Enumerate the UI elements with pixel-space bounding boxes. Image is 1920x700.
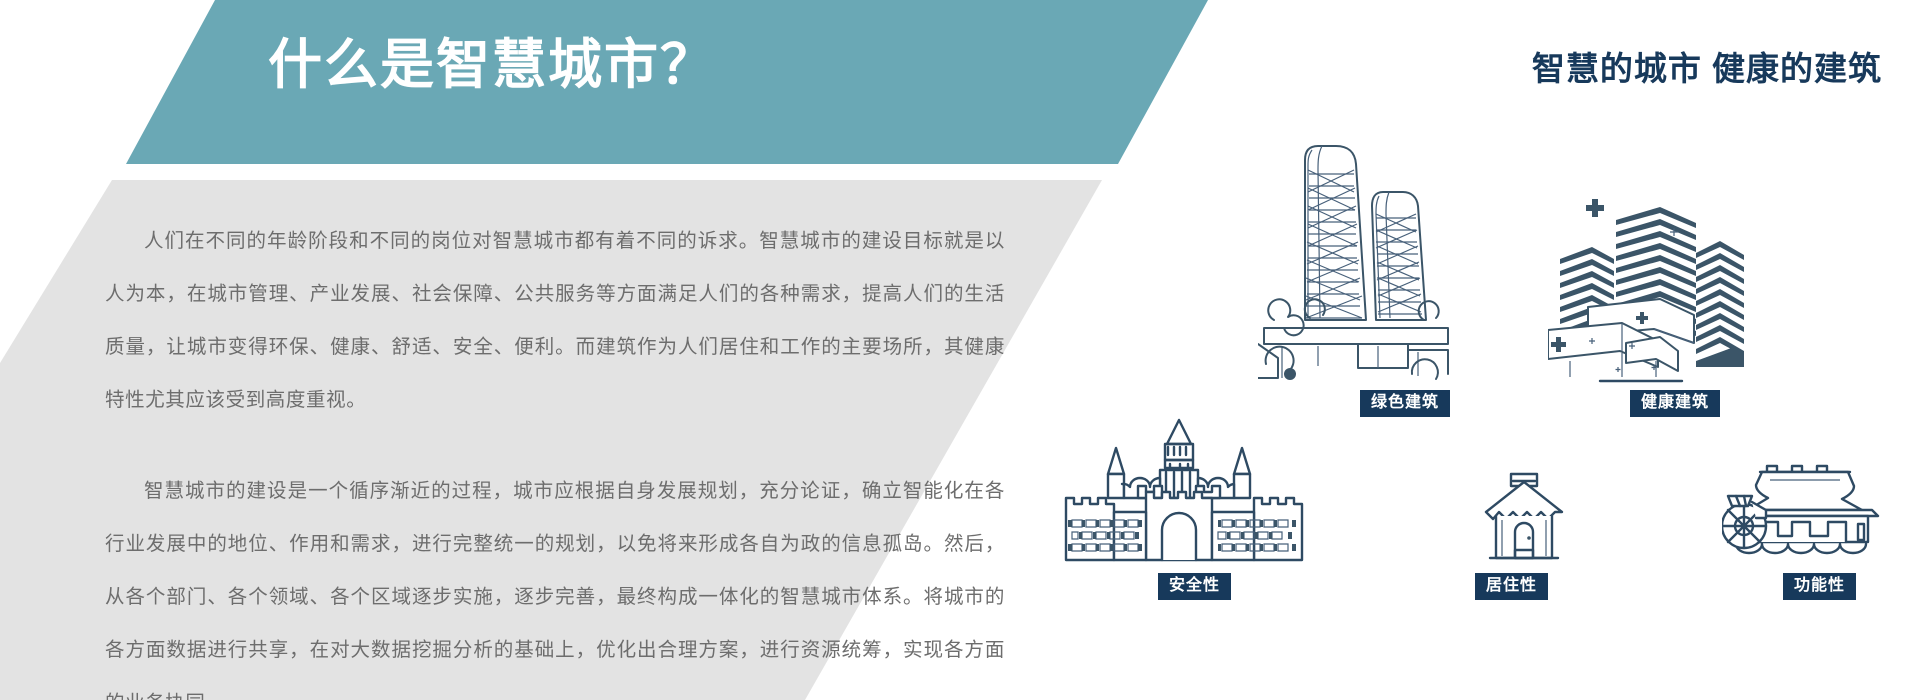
watermill-pavilion-icon [1722,458,1888,562]
tag-green-building: 绿色建筑 [1360,390,1450,417]
illustration-functionality [1722,458,1888,562]
tag-functionality: 功能性 [1783,573,1856,600]
house-icon [1481,470,1567,566]
tag-livability: 居住性 [1475,573,1548,600]
page-title: 什么是智慧城市？ [268,36,716,95]
tag-health-building: 健康建筑 [1630,390,1720,417]
twin-twisted-towers-icon [1258,130,1498,385]
illustration-safety [1062,416,1306,564]
paragraph-1: 人们在不同的年龄阶段和不同的岗位对智慧城市都有着不同的诉求。智慧城市的建设目标就… [105,215,1005,427]
hospital-towers-icon [1548,195,1798,385]
illustration-health-building [1548,195,1798,385]
castle-icon [1062,416,1306,564]
illustration-livability [1481,470,1567,566]
tagline: 智慧的城市 健康的建筑 [1532,42,1882,90]
tag-safety: 安全性 [1158,573,1231,600]
paragraph-2: 智慧城市的建设是一个循序渐近的过程，城市应根据自身发展规划，充分论证，确立智能化… [105,465,1005,700]
body-text: 人们在不同的年龄阶段和不同的岗位对智慧城市都有着不同的诉求。智慧城市的建设目标就… [105,215,1005,700]
slide-canvas: 什么是智慧城市？ 智慧的城市 健康的建筑 人们在不同的年龄阶段和不同的岗位对智慧… [0,0,1920,700]
illustration-green-building [1258,130,1498,385]
